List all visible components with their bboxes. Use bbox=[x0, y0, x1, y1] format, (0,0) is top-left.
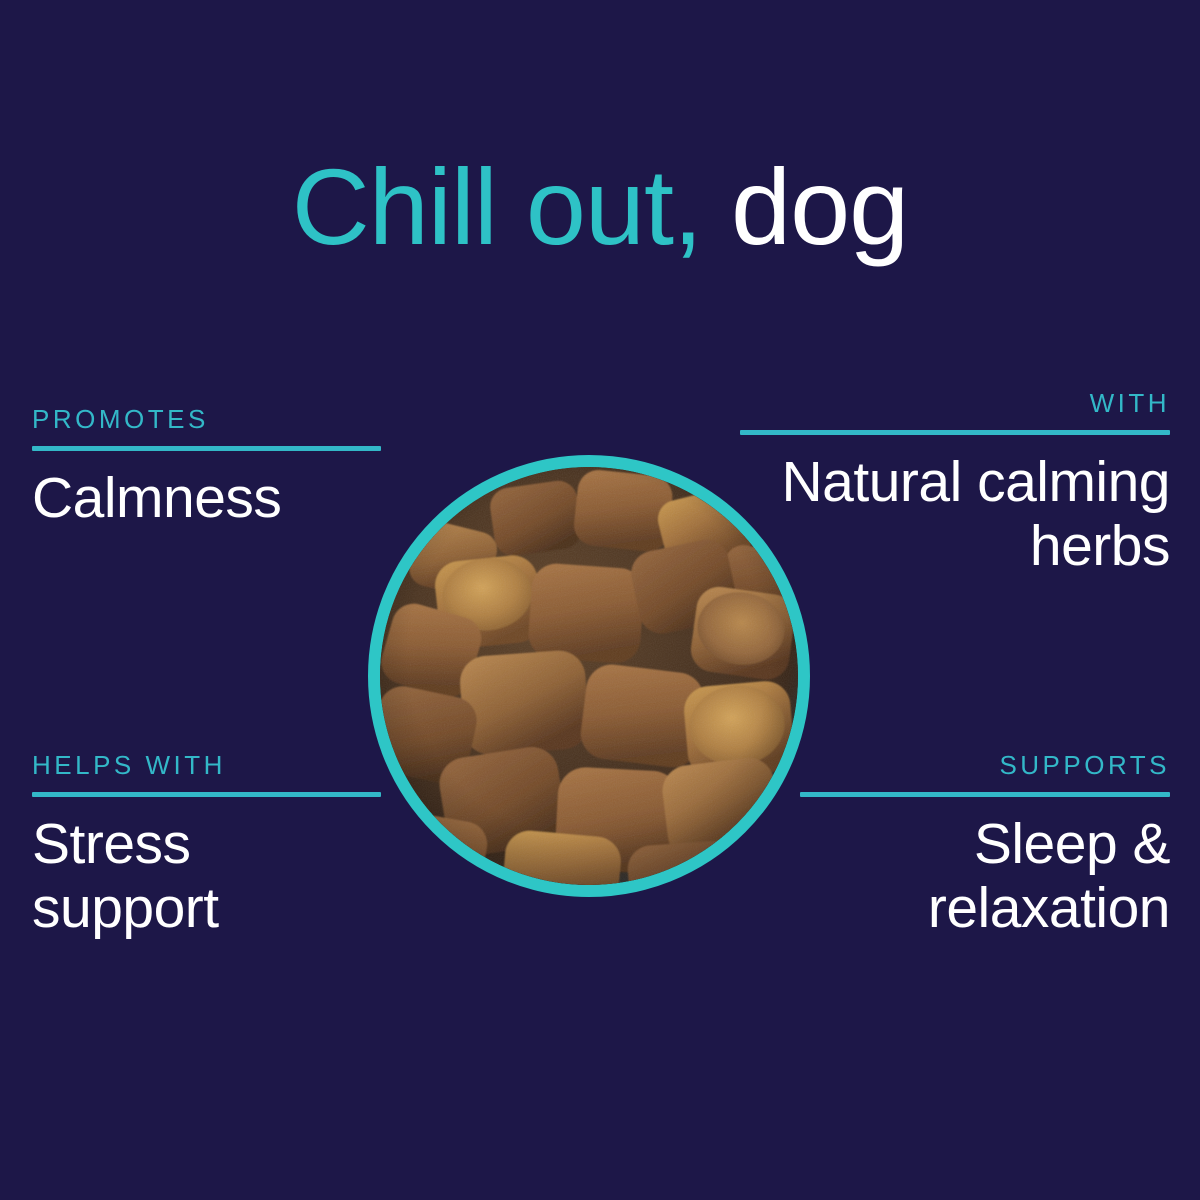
feature-promotes: PROMOTES Calmness bbox=[32, 406, 381, 531]
feature-helps-with-text: Stress support bbox=[32, 813, 381, 941]
feature-promotes-text: Calmness bbox=[32, 467, 381, 531]
feature-with-text: Natural calming herbs bbox=[740, 451, 1170, 579]
feature-helps-with-rule bbox=[32, 792, 381, 797]
headline-accent: Chill out, bbox=[292, 146, 702, 267]
feature-promotes-rule bbox=[32, 446, 381, 451]
headline-plain: dog bbox=[731, 146, 908, 267]
feature-supports-rule bbox=[800, 792, 1170, 797]
feature-supports: SUPPORTS Sleep & relaxation bbox=[800, 752, 1170, 941]
feature-supports-text: Sleep & relaxation bbox=[800, 813, 1170, 941]
feature-promotes-kicker: PROMOTES bbox=[32, 406, 381, 432]
feature-with-kicker: WITH bbox=[740, 390, 1170, 416]
dog-treats-illustration bbox=[380, 467, 798, 885]
infographic-canvas: Chill out, dog PROMOTES Calmness WITH Na… bbox=[0, 0, 1200, 1200]
feature-helps-with-kicker: HELPS WITH bbox=[32, 752, 381, 778]
feature-with: WITH Natural calming herbs bbox=[740, 390, 1170, 579]
feature-supports-kicker: SUPPORTS bbox=[800, 752, 1170, 778]
feature-with-rule bbox=[740, 430, 1170, 435]
product-photo-image bbox=[380, 467, 798, 885]
page-title: Chill out, dog bbox=[0, 150, 1200, 263]
product-photo-circle bbox=[368, 455, 810, 897]
feature-helps-with: HELPS WITH Stress support bbox=[32, 752, 381, 941]
